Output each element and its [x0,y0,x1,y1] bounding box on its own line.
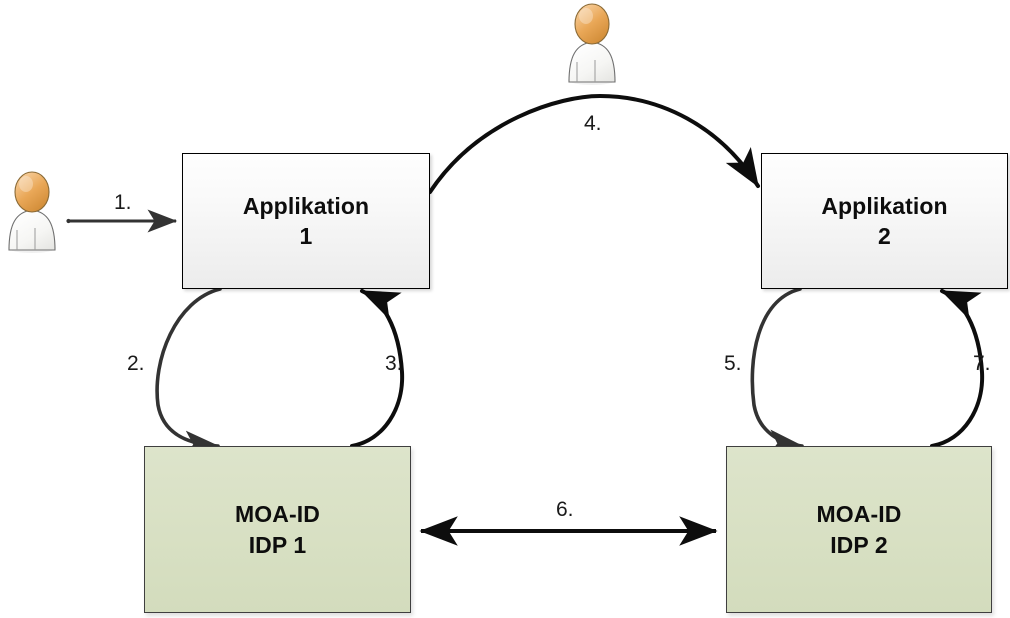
edge-label-2: 2. [127,352,145,376]
diagram-canvas: Applikation 1 Applikation 2 MOA-ID IDP 1… [0,0,1010,618]
application-2-label-line2: 2 [878,221,891,251]
application-2-box[interactable]: Applikation 2 [761,153,1008,289]
connector-2-app1-to-idp1 [157,289,220,446]
connector-1-user-to-app1 [66,219,176,223]
edge-label-7: 7. [973,352,991,376]
application-2-label-line1: Applikation [821,191,947,221]
moa-id-idp-1-label-line2: IDP 1 [249,530,307,560]
edge-label-3: 3. [385,352,403,376]
user-actor-top [568,4,616,85]
edge-label-6: 6. [556,498,574,522]
moa-id-idp-1-label-line1: MOA-ID [235,499,320,529]
application-1-label-line2: 1 [300,221,313,251]
application-1-label-line1: Applikation [243,191,369,221]
edge-label-4: 4. [584,112,602,136]
connector-5-app2-to-idp2 [752,289,802,446]
application-1-box[interactable]: Applikation 1 [182,153,430,289]
user-actor-left [8,172,56,253]
edge-label-1: 1. [114,191,132,215]
edge-label-5: 5. [724,352,742,376]
moa-id-idp-1-box[interactable]: MOA-ID IDP 1 [144,446,411,613]
moa-id-idp-2-label-line1: MOA-ID [817,499,902,529]
moa-id-idp-2-box[interactable]: MOA-ID IDP 2 [726,446,992,613]
moa-id-idp-2-label-line2: IDP 2 [830,530,888,560]
connector-4-app1-to-app2 [430,96,758,192]
